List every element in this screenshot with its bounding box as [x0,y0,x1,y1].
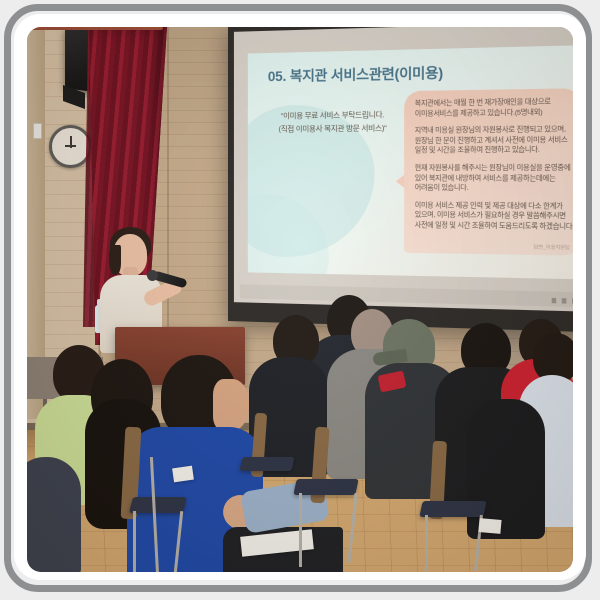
answer-paragraph: 현재 자원봉사를 해주시는 원장님이 미용실을 운영중에 있어 복지관에 내방하… [415,163,571,194]
attendee-torso [27,457,81,572]
attendee-face [213,379,249,431]
slide-title: 05. 복지관 서비스관련(이미용) [268,61,443,85]
photograph: 05. 복지관 서비스관련(이미용) "이미용 무료 서비스 부탁드립니다. (… [27,27,573,572]
chair-paper [172,466,194,483]
wall-clock-icon [49,125,92,168]
answer-line: 원장님 한 분이 진행하고 계셔서 사전에 이미용 서비스 [415,135,571,146]
answer-line: 있어 복지관에 내방하여 서비스를 제공하는데에는 [415,174,571,184]
light-switch [33,123,42,139]
projection-screen: 05. 복지관 서비스관련(이미용) "이미용 무료 서비스 부탁드립니다. (… [228,27,573,332]
answer-line: 어려움이 있습니다. [415,184,571,195]
chair-seat [293,479,358,495]
answer-paragraph: 복지관에서는 매월 한 번 재가장애인을 대상으로 이미용서비스를 제공하고 있… [415,97,571,119]
microphone-head-icon [147,270,158,281]
presenter-hair-side [109,245,121,275]
slide-answer-bubble: 복지관에서는 매월 한 번 재가장애인을 대상으로 이미용서비스를 제공하고 있… [404,88,573,255]
chair-seat [419,501,486,517]
answer-signature: 답변_이용지원팀 [534,244,570,251]
answer-line: 이미용서비스를 제공하고 있습니다.(5명내외) [415,107,571,119]
projector-window-bar [240,284,573,307]
screen-surface: 05. 복지관 서비스관련(이미용) "이미용 무료 서비스 부탁드립니다. (… [234,27,573,312]
chair-leg [133,511,136,572]
chair-seat [129,497,187,513]
podium-top [27,27,163,30]
answer-line: 현재 자원봉사를 해주시는 원장님이 미용실을 운영중에 [415,163,571,173]
slide-question-quote: "이미용 무료 서비스 부탁드립니다. (직접 이미용사 복지관 방문 서비스)… [256,108,411,136]
answer-line: 사전에 일정 및 시간 조율하여 도움드리도록 하겠습니다. [415,221,571,233]
quote-line: (직접 이미용사 복지관 방문 서비스)" [256,121,411,136]
chair-leg [425,515,428,572]
presentation-slide: 05. 복지관 서비스관련(이미용) "이미용 무료 서비스 부탁드립니다. (… [248,45,573,279]
window-controls-icon [552,298,573,304]
chair-seat [240,457,295,471]
answer-paragraph: 이미용 서비스 제공 인력 및 제공 대상에 다소 한계가 있으며, 이미용 서… [415,201,571,233]
answer-line: 일정 및 시간을 조율하여 진행하고 있습니다. [415,146,571,157]
answer-line: 복지관에서는 매월 한 번 재가장애인을 대상으로 [415,97,571,109]
chair-leg [299,493,302,567]
chair-paper [478,518,501,534]
photo-card: 05. 복지관 서비스관련(이미용) "이미용 무료 서비스 부탁드립니다. (… [0,0,600,600]
answer-paragraph: 지역내 미용실 원장님의 자원봉사로 진행되고 있으며, 원장님 한 분이 진행… [415,125,571,156]
